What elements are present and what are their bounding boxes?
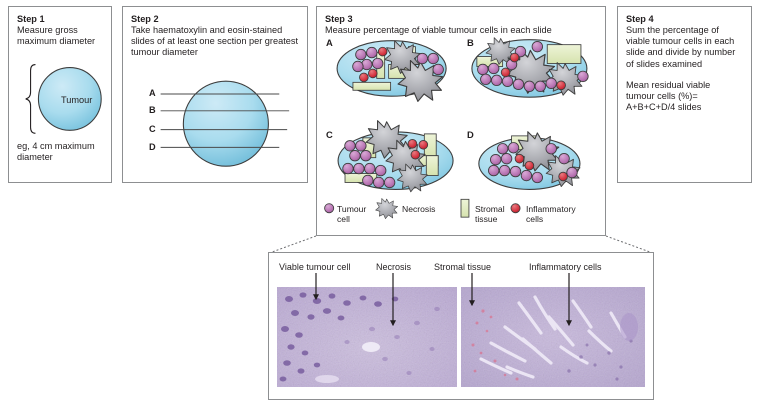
- connector-right: [606, 236, 650, 252]
- connector-left: [272, 236, 316, 252]
- micrograph-panel: Viable tumour cell Necrosis Stromal tiss…: [268, 252, 654, 400]
- micrograph-arrows: [269, 253, 655, 401]
